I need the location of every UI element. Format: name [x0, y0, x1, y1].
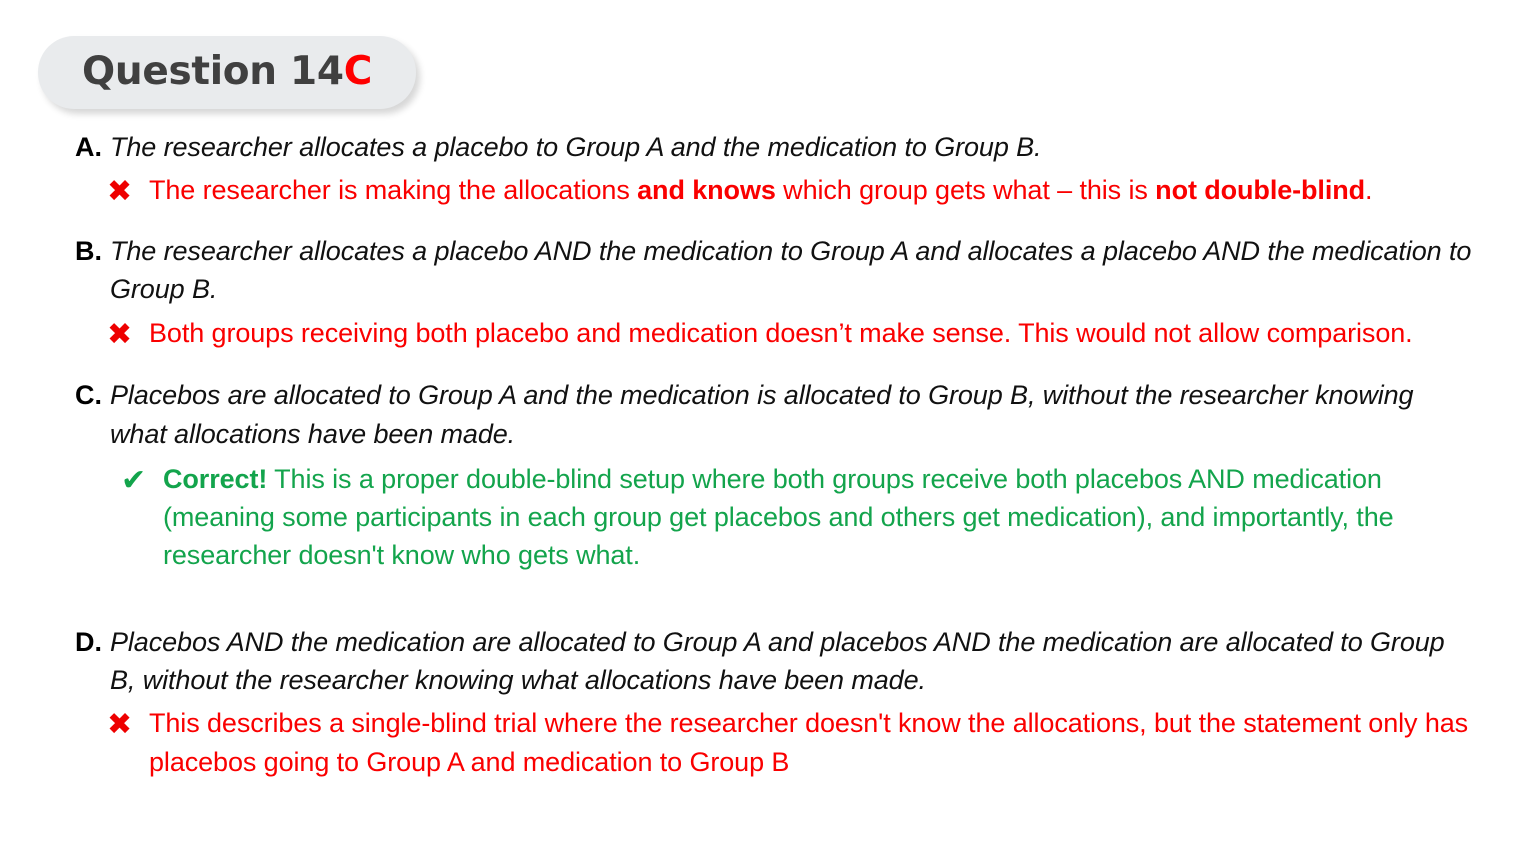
feedback-segment: The researcher is making the allocations [149, 175, 637, 205]
option-b: B. The researcher allocates a placebo AN… [75, 232, 1475, 356]
question-badge: Question 14C [38, 36, 416, 109]
option-d-statement: D. Placebos AND the medication are alloc… [75, 623, 1475, 700]
cross-icon: ✖ [107, 314, 149, 357]
option-a-statement: A. The researcher allocates a placebo to… [75, 128, 1475, 166]
check-icon: ✔ [121, 460, 163, 503]
option-c-statement: C. Placebos are allocated to Group A and… [75, 376, 1475, 453]
option-d-text: Placebos AND the medication are allocate… [110, 623, 1475, 700]
cross-icon: ✖ [107, 171, 149, 214]
option-a-letter: A. [75, 128, 102, 166]
option-d-letter: D. [75, 623, 102, 661]
option-a-text: The researcher allocates a placebo to Gr… [110, 128, 1475, 166]
feedback-segment: . [1365, 175, 1372, 205]
feedback-segment-bold: not double-blind [1155, 175, 1365, 205]
option-d-feedback-text: This describes a single-blind trial wher… [149, 704, 1475, 781]
option-c-feedback: ✔ Correct! This is a proper double-blind… [121, 460, 1475, 575]
option-a-feedback-text: The researcher is making the allocations… [149, 171, 1475, 209]
question-badge-answer: C [344, 49, 372, 94]
feedback-segment: This is a proper double-blind setup wher… [163, 464, 1394, 571]
option-c-letter: C. [75, 376, 102, 414]
option-a: A. The researcher allocates a placebo to… [75, 128, 1475, 214]
option-b-feedback: ✖ Both groups receiving both placebo and… [107, 314, 1475, 357]
question-badge-label: Question 14 [82, 49, 344, 94]
feedback-segment: which group gets what – this is [776, 175, 1155, 205]
correct-label: Correct! [163, 464, 267, 494]
option-b-feedback-text: Both groups receiving both placebo and m… [149, 314, 1475, 352]
answer-options-list: A. The researcher allocates a placebo to… [75, 128, 1475, 781]
option-d: D. Placebos AND the medication are alloc… [75, 623, 1475, 781]
cross-icon: ✖ [107, 704, 149, 747]
option-c: C. Placebos are allocated to Group A and… [75, 376, 1475, 575]
option-a-feedback: ✖ The researcher is making the allocatio… [107, 171, 1475, 214]
feedback-segment-bold: and knows [637, 175, 776, 205]
option-d-feedback: ✖ This describes a single-blind trial wh… [107, 704, 1475, 781]
option-b-statement: B. The researcher allocates a placebo AN… [75, 232, 1475, 309]
option-c-feedback-text: Correct! This is a proper double-blind s… [163, 460, 1475, 575]
question-badge-pill: Question 14C [38, 36, 416, 109]
option-b-text: The researcher allocates a placebo AND t… [110, 232, 1475, 309]
option-c-text: Placebos are allocated to Group A and th… [110, 376, 1475, 453]
option-b-letter: B. [75, 232, 102, 270]
